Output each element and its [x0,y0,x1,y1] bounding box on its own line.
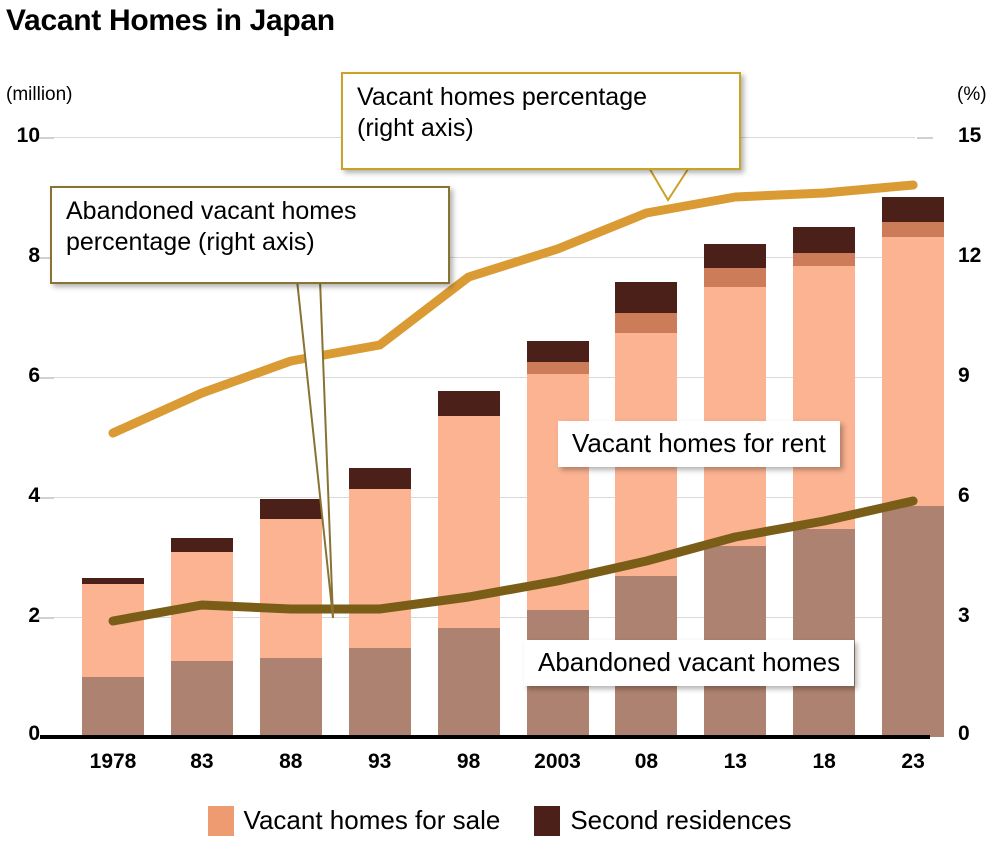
y-tick-0: 0 [0,722,40,746]
bar-segment [882,237,944,506]
x-tick-88: 88 [246,750,336,774]
bar-segment [882,197,944,222]
legend-swatch-second-residences [534,806,560,836]
x-tick-18: 18 [779,750,869,774]
bar-segment [82,578,144,584]
y2-tick-6: 6 [958,484,998,508]
bar-23 [882,197,944,737]
bar-segment [615,282,677,313]
bar-segment [438,416,500,628]
callout-abandoned-pct-line2: percentage (right axis) [66,227,434,258]
bar-93 [349,468,411,737]
y2-tick-9: 9 [958,364,998,388]
legend-label-for-sale: Vacant homes for sale [244,805,501,836]
bar-segment [527,362,589,374]
bar-83 [171,538,233,737]
chart-root: Vacant Homes in Japan (million) (%) 10 8… [0,0,999,855]
bar-segment [527,374,589,610]
bar-segment [171,661,233,737]
callout-tail-vacant-pct [648,166,690,200]
bar-segment [793,253,855,266]
bar-segment [260,499,322,519]
x-tick-13: 13 [690,750,780,774]
bar-segment [349,648,411,737]
left-axis-unit: (million) [6,84,73,106]
bar-segment [171,552,233,661]
callout-abandoned-pct-line1: Abandoned vacant homes [66,196,434,227]
bar-segment [704,287,766,546]
x-tick-83: 83 [157,750,247,774]
bar-segment [349,468,411,490]
bar-88 [260,499,322,737]
legend-item-second-residences: Second residences [534,805,791,836]
x-tick-08: 08 [601,750,691,774]
label-vacant-homes-for-rent: Vacant homes for rent [558,421,840,467]
y-tick-2: 2 [0,604,40,628]
tick-mark-left-10 [38,137,54,139]
gridline-6 [50,377,915,378]
bar-segment [793,529,855,737]
y2-tick-0: 0 [958,722,998,746]
page-title: Vacant Homes in Japan [6,2,335,40]
y2-tick-12: 12 [958,244,998,268]
bar-segment [438,628,500,737]
y-tick-8: 8 [0,244,40,268]
y-tick-10: 10 [0,124,40,148]
x-axis-baseline [40,735,930,739]
y-tick-6: 6 [0,364,40,388]
bar-segment [882,506,944,737]
bar-segment [82,584,144,677]
x-tick-2003: 2003 [513,750,603,774]
x-tick-98: 98 [424,750,514,774]
callout-vacant-pct-line1: Vacant homes percentage [357,82,725,113]
tick-mark-left-2 [38,617,54,619]
tick-mark-left-4 [38,497,54,499]
bar-segment [793,227,855,253]
right-axis-unit: (%) [957,84,987,106]
bar-1978 [82,578,144,737]
y-tick-4: 4 [0,484,40,508]
y2-tick-3: 3 [958,604,998,628]
callout-abandoned-vacant-homes-percentage: Abandoned vacant homes percentage (right… [50,186,450,284]
legend-label-second-residences: Second residences [570,805,791,836]
bar-segment [171,538,233,551]
legend-item-for-sale: Vacant homes for sale [208,805,501,836]
callout-vacant-pct-line2: (right axis) [357,113,725,144]
x-tick-93: 93 [335,750,425,774]
bar-segment [260,519,322,658]
bar-segment [704,268,766,287]
tick-mark-left-6 [38,377,54,379]
y2-tick-15: 15 [958,124,998,148]
bar-segment [527,341,589,362]
bar-segment [882,222,944,237]
bar-segment [615,313,677,333]
bar-segment [438,391,500,416]
x-tick-23: 23 [868,750,958,774]
tick-mark-right-15 [917,137,933,139]
bar-segment [82,677,144,737]
legend-swatch-for-sale [208,806,234,836]
bar-segment [704,244,766,268]
x-tick-1978: 1978 [68,750,158,774]
callout-vacant-homes-percentage: Vacant homes percentage (right axis) [341,72,741,170]
legend: Vacant homes for sale Second residences [0,805,999,836]
label-abandoned-vacant-homes: Abandoned vacant homes [524,640,854,686]
bar-segment [349,489,411,648]
bar-segment [793,266,855,529]
bar-98 [438,391,500,737]
bar-segment [260,658,322,737]
